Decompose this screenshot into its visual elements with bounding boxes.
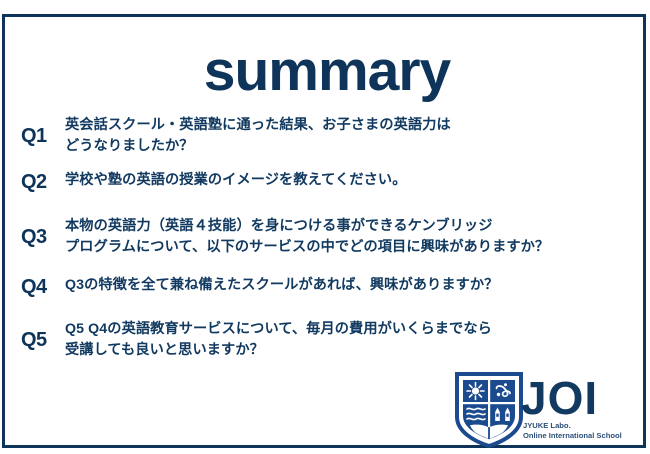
question-row-q3: Q3 本物の英語力（英語４技能）を身につける事ができるケンブリッジ プログラムに…	[21, 216, 633, 257]
question-text-q3-line1: 本物の英語力（英語４技能）を身につける事ができるケンブリッジ	[65, 216, 633, 237]
question-text-q2: 学校や塾の英語の授業のイメージを教えてください。	[65, 170, 633, 191]
question-text-q5-line2: 受講しても良いと思いますか？	[65, 340, 633, 361]
joi-tagline: JYUKE Labo. Online International School	[523, 421, 622, 442]
question-row-q1: Q1 英会話スクール・英語塾に通った結果、お子さまの英語力は どうなりましたか？	[21, 115, 633, 156]
question-text-q5-line1: Q5 Q4の英語教育サービスについて、毎月の費用がいくらまでなら	[65, 319, 633, 340]
question-row-q4: Q4 Q3の特徴を全て兼ね備えたスクールがあれば、興味がありますか？	[21, 275, 633, 299]
joi-tagline-line2: Online International School	[523, 431, 622, 441]
question-list: Q1 英会話スクール・英語塾に通った結果、お子さまの英語力は どうなりましたか？…	[21, 115, 633, 377]
question-text-q5: Q5 Q4の英語教育サービスについて、毎月の費用がいくらまでなら 受講しても良い…	[65, 319, 633, 360]
slide-canvas: summary Q1 英会話スクール・英語塾に通った結果、お子さまの英語力は ど…	[0, 0, 650, 454]
shield-icon	[453, 369, 525, 449]
question-label-q4: Q4	[21, 275, 65, 299]
question-text-q3-line2: プログラムについて、以下のサービスの中でどの項目に興味がありますか？	[65, 237, 633, 258]
question-text-q4-line1: Q3の特徴を全て兼ね備えたスクールがあれば、興味がありますか？	[65, 275, 633, 296]
joi-tagline-line1: JYUKE Labo.	[523, 421, 622, 431]
question-label-q2: Q2	[21, 170, 65, 194]
question-text-q2-line1: 学校や塾の英語の授業のイメージを教えてください。	[65, 170, 633, 191]
question-label-q5: Q5	[21, 319, 65, 352]
joi-wordmark: JOI	[521, 375, 598, 421]
question-text-q1-line1: 英会話スクール・英語塾に通った結果、お子さまの英語力は	[65, 115, 633, 136]
question-text-q3: 本物の英語力（英語４技能）を身につける事ができるケンブリッジ プログラムについて…	[65, 216, 633, 257]
question-row-q2: Q2 学校や塾の英語の授業のイメージを教えてください。	[21, 170, 633, 194]
page-title: summary	[5, 43, 649, 100]
question-text-q1-line2: どうなりましたか？	[65, 136, 633, 157]
joi-shield-emblem	[453, 369, 525, 449]
question-label-q3: Q3	[21, 216, 65, 249]
joi-logo: JOI JYUKE Labo. Online International Sch…	[453, 369, 639, 451]
question-row-q5: Q5 Q5 Q4の英語教育サービスについて、毎月の費用がいくらまでなら 受講して…	[21, 319, 633, 360]
question-text-q1: 英会話スクール・英語塾に通った結果、お子さまの英語力は どうなりましたか？	[65, 115, 633, 156]
sun-icon	[467, 383, 484, 400]
question-text-q4: Q3の特徴を全て兼ね備えたスクールがあれば、興味がありますか？	[65, 275, 633, 296]
slide-border-frame: summary Q1 英会話スクール・英語塾に通った結果、お子さまの英語力は ど…	[2, 14, 646, 448]
question-label-q1: Q1	[21, 115, 65, 148]
